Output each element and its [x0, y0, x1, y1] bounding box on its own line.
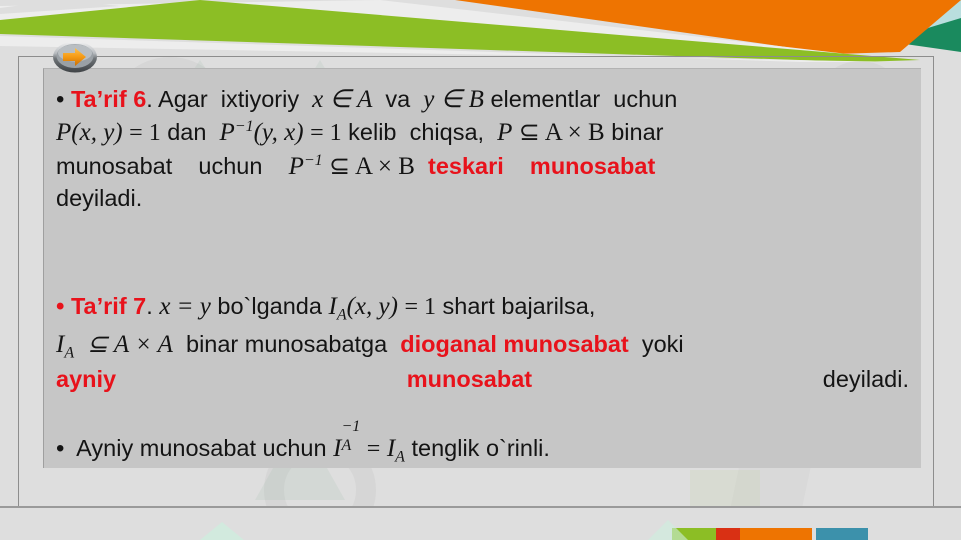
next-slide-arrow-icon[interactable]: [52, 40, 98, 74]
math-P-1: P: [56, 119, 71, 146]
paragraph-spacer: [56, 246, 909, 290]
bullet-marker-3: •: [56, 435, 64, 462]
math-I-sub-A-1: A: [337, 307, 347, 324]
keyword-ayniy-munosabat: ayniy munosabat: [56, 366, 532, 392]
definition-tarif-6: • Ta’rif 6. Agar ixtiyoriy x ∈ A va y ∈ …: [56, 83, 909, 246]
math-x-in-A: x ∈ A: [312, 86, 372, 113]
top-decorative-banner: [0, 0, 961, 62]
definition-ayniy-note: • Ayniy munosabat uchun I−1A = IA tengli…: [56, 428, 909, 468]
definition-tarif-7: • Ta’rif 7. x = y bo`lganda IA(x, y) = 1…: [56, 290, 909, 326]
math-I-sub-A-3: A: [341, 438, 360, 454]
tarif7-text-e: yoki: [642, 331, 684, 357]
tarif6-text-e: uchun: [613, 86, 677, 112]
tarif7-text-d: binar munosabatga: [186, 331, 387, 357]
tarif6-text-j: munosabat: [56, 153, 172, 179]
keyword-teskari: teskari: [428, 153, 504, 179]
keyword-tarif-7: Ta’rif 7: [71, 293, 146, 319]
math-eq-2: = 1: [310, 120, 342, 146]
math-P-4: P: [289, 153, 304, 180]
tarif6-text-c: va: [385, 86, 410, 112]
math-I-sub-A-4: A: [395, 449, 405, 466]
tarif6-text-l: deyiladi.: [56, 185, 142, 211]
math-P-3: P: [497, 119, 512, 146]
keyword-tarif-6: Ta’rif: [71, 86, 127, 112]
math-I-inverse-subsup: −1A: [341, 428, 360, 460]
tarif6-text-i: binar: [611, 119, 663, 145]
tarif6-text-g: kelib: [348, 119, 396, 145]
bullet-marker-1: •: [56, 86, 64, 113]
tarif6-text-a: . Agar: [146, 86, 207, 112]
ayniy-note-text-b: tenglik o`rinli.: [411, 435, 549, 461]
keyword-dioganal-munosabat: dioganal munosabat: [400, 331, 629, 357]
math-eq-4: =: [367, 436, 381, 462]
math-subset-AxA: ⊆ A × A: [87, 331, 173, 358]
math-x-eq-y: x = y: [159, 293, 211, 320]
tarif6-text-d: elementlar: [490, 86, 600, 112]
tarif6-text-b: ixtiyoriy: [221, 86, 299, 112]
math-P-args-1: (x, y): [71, 119, 122, 146]
definition-content-box: • Ta’rif 6. Agar ixtiyoriy x ∈ A va y ∈ …: [43, 68, 921, 468]
bottom-decorative-bars: [0, 506, 961, 540]
math-P-inverse-sup-1: −1: [235, 118, 254, 135]
tarif7-text-f: deyiladi.: [823, 366, 909, 392]
tarif7-text-a: .: [146, 293, 153, 319]
keyword-munosabat-1: munosabat: [530, 153, 655, 179]
tarif6-text-h: chiqsa,: [410, 119, 484, 145]
math-P-inverse-sup-2: −1: [304, 152, 323, 169]
math-y-in-B: y ∈ B: [423, 86, 484, 113]
tarif7-text-c: shart bajarilsa,: [443, 293, 596, 319]
bullet-marker-2: •: [56, 293, 64, 320]
math-I-sub-A-2: A: [64, 345, 74, 362]
ayniy-note-text-a: Ayniy munosabat uchun: [76, 435, 326, 461]
math-eq-3: = 1: [404, 294, 436, 320]
math-I-4: I: [387, 435, 395, 462]
tarif6-text-k: uchun: [198, 153, 262, 179]
tarif7-text-b: bo`lganda: [217, 293, 322, 319]
tarif6-text-f: dan: [167, 119, 206, 145]
math-P-2: P: [220, 119, 235, 146]
definition-number-6: 6: [133, 86, 146, 112]
slide-canvas: • Ta’rif 6. Agar ixtiyoriy x ∈ A va y ∈ …: [0, 0, 961, 540]
math-eq-1: = 1: [129, 120, 161, 146]
math-subset-AxB-1: ⊆ A × B: [519, 119, 605, 146]
math-I-args-1: (x, y): [347, 293, 398, 320]
definition-tarif-7-cont: IA ⊆ A × A binar munosabatga dioganal mu…: [56, 328, 909, 426]
math-I-sup-inverse: −1: [341, 419, 360, 435]
math-subset-AxB-2: ⊆ A × B: [329, 153, 415, 180]
math-I-1: I: [328, 293, 336, 320]
math-P-args-2: (y, x): [254, 119, 304, 146]
